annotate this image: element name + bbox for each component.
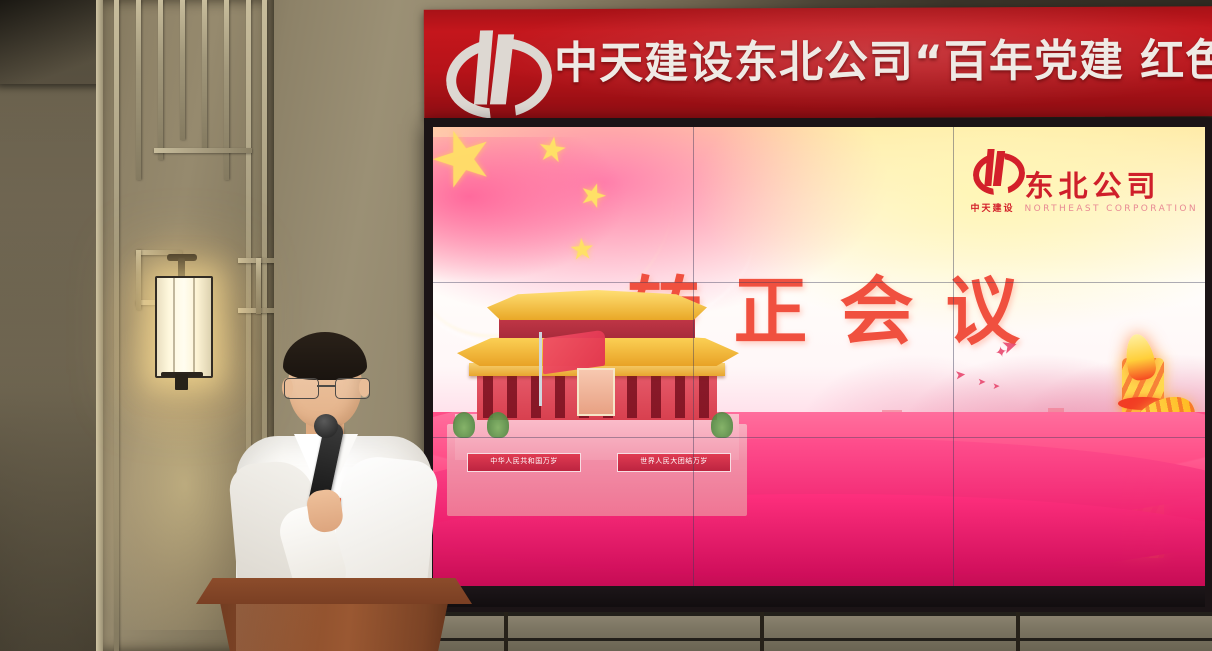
lattice-bar	[202, 0, 207, 150]
lattice-bar	[256, 258, 261, 314]
lattice-bar	[154, 148, 252, 153]
lattice-bar	[114, 0, 119, 651]
conference-photo: 中天建设东北公司“百年党建 红色记忆”党日活动 ★ ★ ★ ★ 中天建设	[0, 0, 1212, 651]
ztcc-emblem-icon	[442, 26, 536, 106]
lattice-edge-left	[96, 0, 103, 651]
speaker-at-podium	[228, 330, 440, 620]
wall-sconce	[155, 272, 209, 390]
event-banner: 中天建设东北公司“百年党建 红色记忆”党日活动	[424, 6, 1212, 119]
stage-cabinet	[408, 612, 1212, 651]
sconce-stem	[175, 374, 188, 390]
lattice-bar	[136, 250, 141, 310]
ceiling-speaker	[0, 0, 102, 84]
speaker-hair	[283, 332, 367, 380]
lattice-bar	[180, 0, 185, 140]
eyeglasses-icon	[284, 378, 368, 397]
lattice-bar	[136, 0, 141, 180]
lattice-bar	[158, 0, 163, 160]
wooden-podium	[196, 578, 472, 651]
sconce-shade	[155, 276, 213, 378]
led-video-wall: ★ ★ ★ ★ 中天建设 东北公司 NORTHEAST CORPORATION	[424, 118, 1212, 616]
banner-title-text: 中天建设东北公司“百年党建 红色记忆”党日活动	[554, 38, 1212, 86]
video-wall-frame	[424, 118, 1212, 616]
left-wall-sheen	[0, 0, 96, 651]
lattice-bar	[224, 0, 229, 180]
sconce-arm	[178, 258, 185, 278]
